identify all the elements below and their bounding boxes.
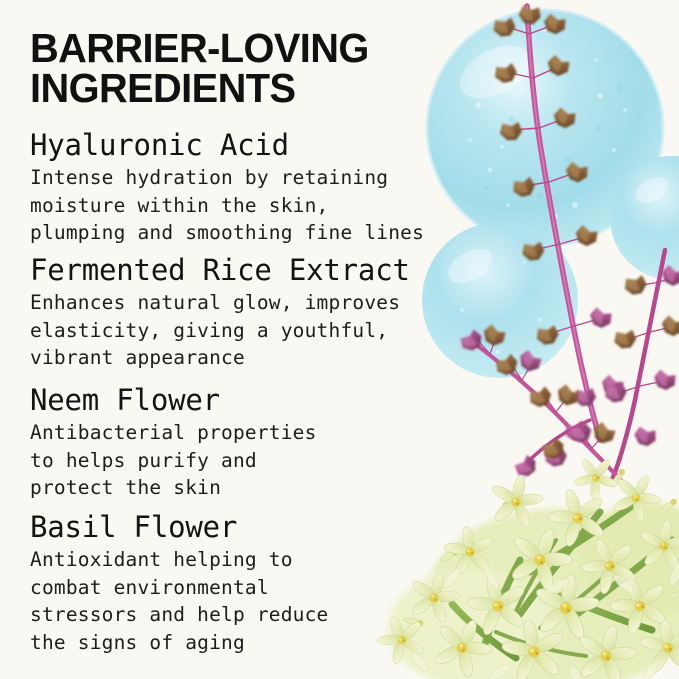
ingredient-description: Antibacterial properties to helps purify… [30, 419, 490, 502]
basil-flower-stem [512, 420, 595, 481]
ingredient-item: Fermented Rice Extract Enhances natural … [30, 255, 490, 372]
ingredient-name: Hyaluronic Acid [30, 130, 490, 162]
ingredient-item: Hyaluronic Acid Intense hydration by ret… [30, 130, 490, 247]
page-title-line-2: INGREDIENTS [30, 65, 295, 111]
ingredient-description: Antioxidant helping to combat environmen… [30, 546, 490, 657]
ingredient-description: Enhances natural glow, improves elastici… [30, 289, 490, 372]
basil-flower-stem [491, 5, 625, 440]
ingredient-item: Neem Flower Antibacterial properties to … [30, 385, 490, 502]
ingredient-description: Intense hydration by retaining moisture … [30, 164, 490, 247]
page-title-line-1: BARRIER-LOVING [30, 25, 369, 71]
ingredient-item: Basil Flower Antioxidant helping to comb… [30, 512, 490, 657]
ingredient-name: Fermented Rice Extract [30, 255, 490, 287]
basil-flower-stem [602, 250, 679, 480]
gel-bubble-edge [610, 156, 679, 280]
ingredient-poster: BARRIER-LOVINGINGREDIENTS Hyaluronic Aci… [0, 0, 679, 679]
ingredient-name: Neem Flower [30, 385, 490, 417]
page-title: BARRIER-LOVINGINGREDIENTS [30, 28, 447, 108]
ingredient-name: Basil Flower [30, 512, 490, 544]
